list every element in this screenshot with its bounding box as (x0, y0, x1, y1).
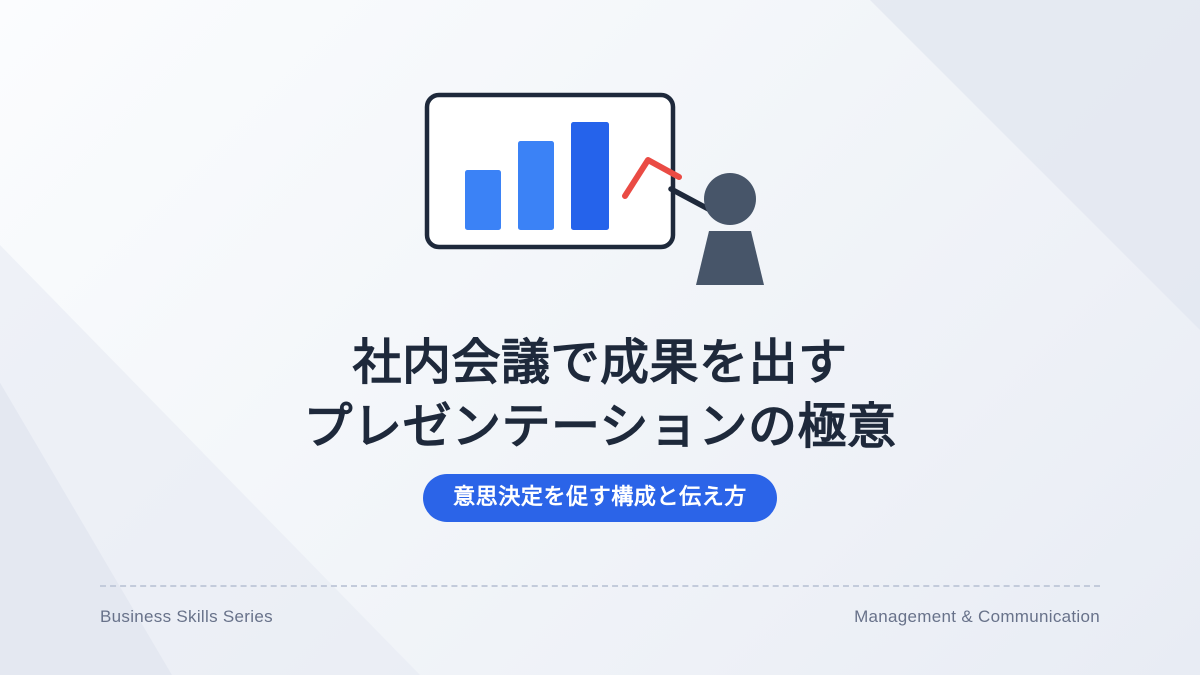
footer-category-label: Management & Communication (854, 607, 1100, 627)
footer-series-label: Business Skills Series (100, 607, 273, 627)
footer: Business Skills Series Management & Comm… (100, 585, 1100, 627)
chart-bar-1-icon (465, 170, 501, 230)
footer-divider (100, 585, 1100, 587)
hero-illustration (0, 88, 1200, 298)
subtitle-badge: 意思決定を促す構成と伝え方 (423, 474, 777, 522)
badge-row: 意思決定を促す構成と伝え方 (0, 474, 1200, 522)
presentation-title-slide: 社内会議で成果を出す プレゼンテーションの極意 意思決定を促す構成と伝え方 Bu… (0, 0, 1200, 675)
presenter-at-whiteboard-icon (420, 88, 780, 298)
headline-line-2: プレゼンテーションの極意 (0, 395, 1200, 459)
footer-row: Business Skills Series Management & Comm… (100, 607, 1100, 627)
page-title: 社内会議で成果を出す プレゼンテーションの極意 (0, 331, 1200, 459)
headline-line-1: 社内会議で成果を出す (0, 331, 1200, 395)
chart-bar-3-icon (571, 122, 609, 230)
presenter-body-icon (696, 231, 764, 285)
chart-bar-2-icon (518, 141, 554, 230)
presenter-head-icon (704, 173, 756, 225)
